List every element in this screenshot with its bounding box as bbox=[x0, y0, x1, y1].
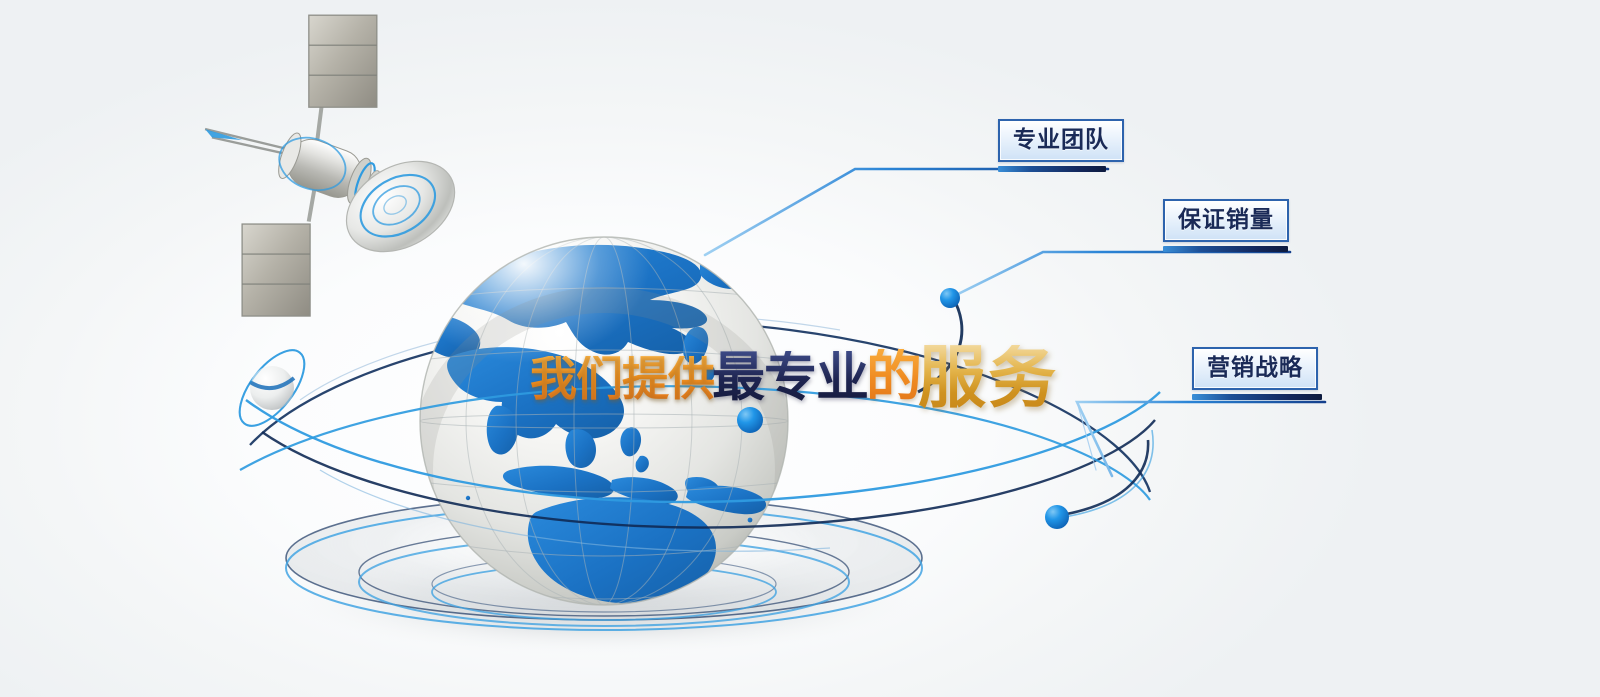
headline-segment-service: 服务 bbox=[918, 345, 1058, 413]
node-center bbox=[737, 407, 763, 433]
callout-label: 专业团队 bbox=[1013, 127, 1109, 153]
node-lower bbox=[1045, 505, 1069, 529]
callout-box[interactable]: 保证销量 bbox=[1163, 199, 1289, 242]
callout-underline bbox=[998, 166, 1106, 172]
satellite-solar-panel bbox=[242, 224, 310, 316]
connector-guaranteed-sales bbox=[950, 252, 1290, 298]
callout-underline bbox=[1192, 394, 1322, 400]
connector-professional-team bbox=[705, 169, 1108, 255]
headline-segment-particle-de: 的 bbox=[866, 349, 922, 405]
callout-label: 营销战略 bbox=[1207, 355, 1303, 381]
callout-label: 保证销量 bbox=[1178, 207, 1274, 233]
satellite-icon bbox=[160, 0, 486, 336]
headline-segment-we-provide: 我们提供 bbox=[530, 356, 714, 403]
headline-segment-most-professional: 最专业 bbox=[712, 351, 868, 404]
small-orbiting-sphere bbox=[228, 340, 317, 437]
callout-marketing-strategy[interactable]: 营销战略 bbox=[1192, 347, 1322, 400]
callout-underline bbox=[1163, 246, 1288, 252]
connector-marketing-strategy bbox=[1077, 402, 1325, 476]
headline: 我们提供最专业的服务 bbox=[530, 339, 1058, 407]
callout-box[interactable]: 营销战略 bbox=[1192, 347, 1318, 390]
callout-professional-team[interactable]: 专业团队 bbox=[998, 119, 1124, 172]
callout-box[interactable]: 专业团队 bbox=[998, 119, 1124, 162]
banner-stage: 我们提供最专业的服务 专业团队 保证销量 营销战略 bbox=[0, 0, 1600, 697]
node-upper bbox=[940, 288, 960, 308]
callout-guaranteed-sales[interactable]: 保证销量 bbox=[1163, 199, 1289, 252]
satellite-solar-panel bbox=[309, 15, 377, 107]
